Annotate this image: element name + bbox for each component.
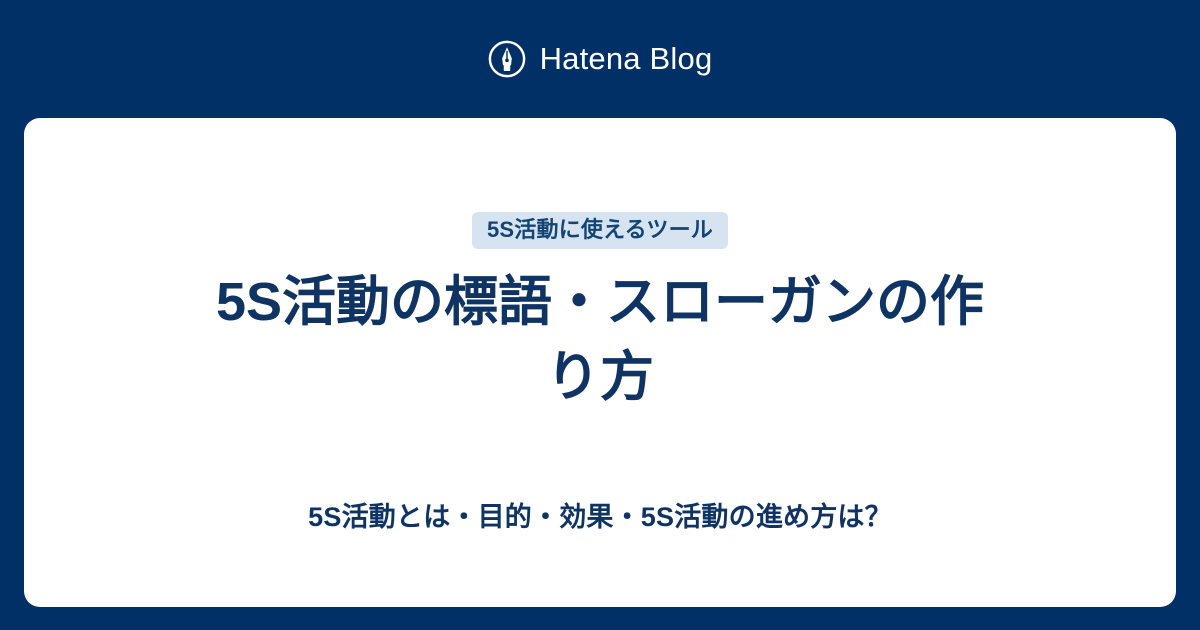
entry-title: 5S活動の標語・スローガンの作り方 (200, 265, 1000, 415)
hatena-blog-brand-header: Hatena Blog (0, 0, 1200, 118)
entry-card-inner: 5S活動に使えるツール 5S活動の標語・スローガンの作り方 5S活動とは・目的・… (24, 118, 1176, 607)
entry-category-tag[interactable]: 5S活動に使えるツール (472, 212, 728, 249)
blog-subtitle: 5S活動とは・目的・効果・5S活動の進め方は？ (24, 499, 1176, 535)
og-image-root: Hatena Blog 5S活動に使えるツール 5S活動の標語・スローガンの作り… (0, 0, 1200, 630)
entry-tag-row: 5S活動に使えるツール (24, 212, 1176, 249)
hatena-pen-nib-icon (488, 40, 526, 78)
entry-card: 5S活動に使えるツール 5S活動の標語・スローガンの作り方 5S活動とは・目的・… (24, 118, 1176, 607)
hatena-blog-brand-name: Hatena Blog (540, 40, 713, 78)
